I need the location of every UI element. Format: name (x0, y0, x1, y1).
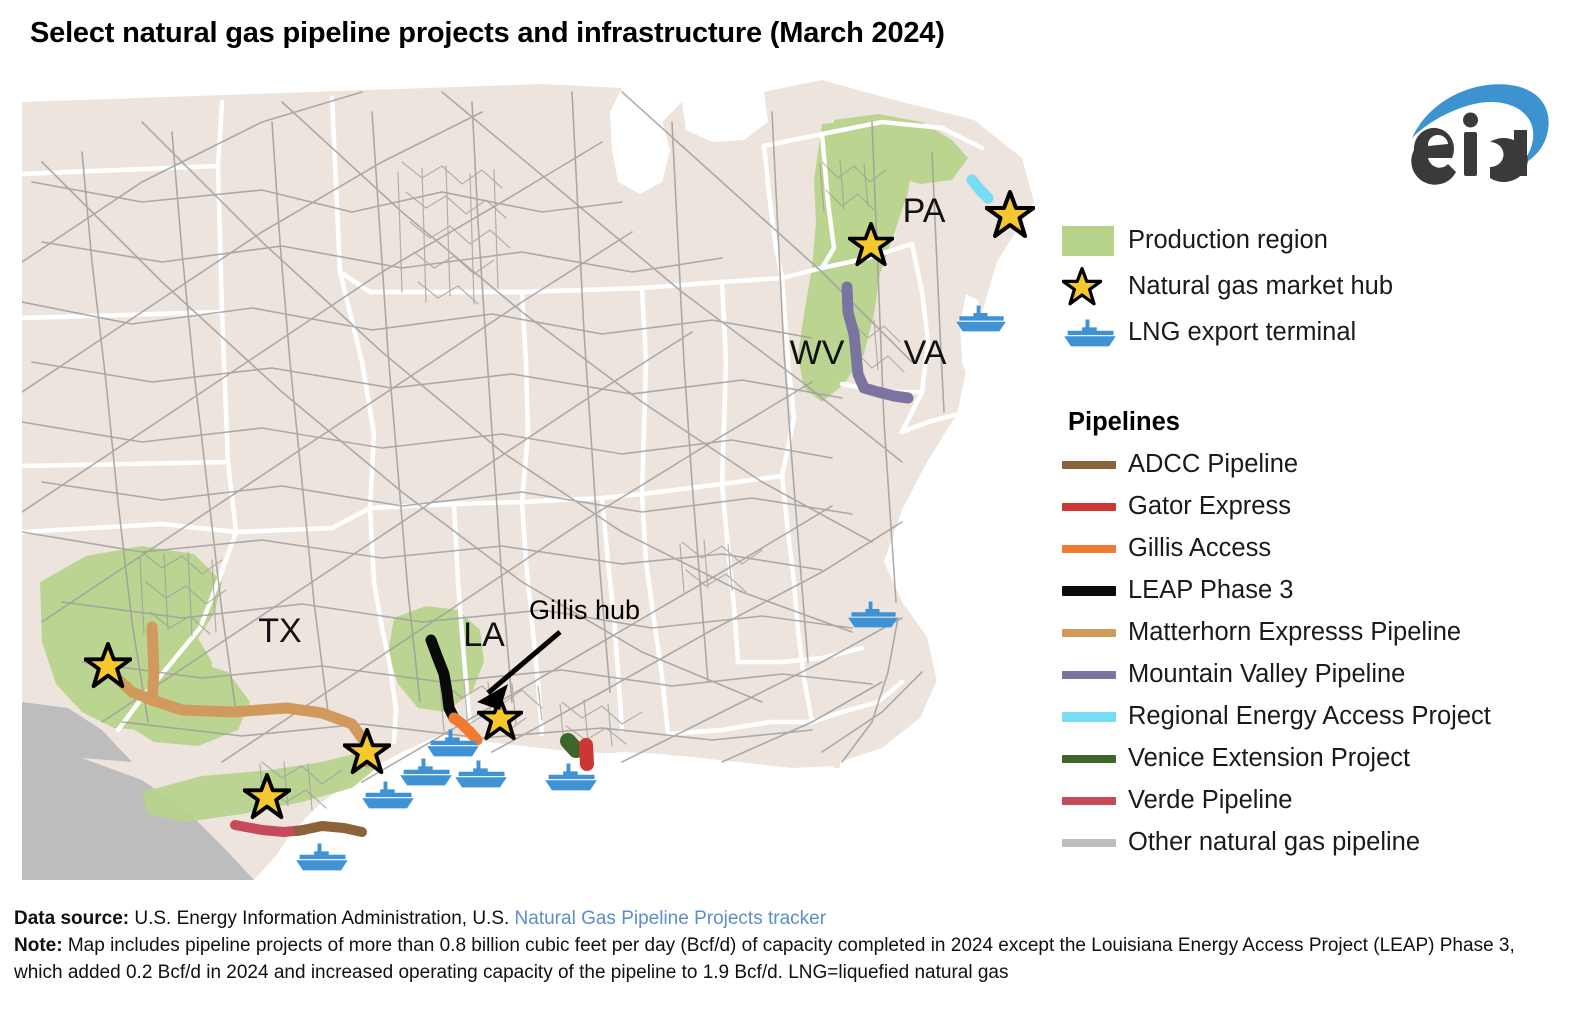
note-label: Note: (14, 935, 63, 956)
line-swatch-icon (1062, 797, 1128, 805)
line-swatch-icon (1062, 461, 1128, 469)
data-source-line: Data source: U.S. Energy Information Adm… (14, 905, 1564, 932)
data-source-link[interactable]: Natural Gas Pipeline Projects tracker (515, 908, 827, 929)
legend-symbols: Production region Natural gas market hub… (1062, 218, 1562, 356)
legend-label-mountain-valley-pipeline: Mountain Valley Pipeline (1128, 662, 1405, 688)
pipeline-venice-extension (568, 741, 576, 750)
legend-label-gator-express: Gator Express (1128, 494, 1291, 520)
line-swatch-icon (1062, 545, 1128, 553)
legend-item-gillis-access[interactable]: Gillis Access (1062, 528, 1572, 570)
annotation-label-gillis-hub: Gillis hub (529, 595, 640, 625)
map-figure: Select natural gas pipeline projects and… (0, 0, 1572, 1028)
legend-label-venice-extension-project: Venice Extension Project (1128, 746, 1410, 772)
legend-label-gillis-access: Gillis Access (1128, 536, 1271, 562)
pipeline-adcc (298, 826, 362, 832)
legend-item-venice-extension-project[interactable]: Venice Extension Project (1062, 738, 1572, 780)
legend-label-matterhorn-express-pipeline: Matterhorn Expresss Pipeline (1128, 620, 1461, 646)
legend-label-market-hub: Natural gas market hub (1128, 274, 1393, 300)
star-icon (1062, 267, 1128, 307)
legend-item-gator-express[interactable]: Gator Express (1062, 486, 1572, 528)
legend-item-adcc-pipeline[interactable]: ADCC Pipeline (1062, 444, 1572, 486)
legend-pipelines: ADCC Pipeline Gator Express Gillis Acces… (1062, 444, 1572, 864)
footer: Data source: U.S. Energy Information Adm… (14, 905, 1564, 986)
legend-label-leap-phase-3: LEAP Phase 3 (1128, 578, 1293, 604)
page-title: Select natural gas pipeline projects and… (30, 17, 945, 50)
legend-item-market-hub[interactable]: Natural gas market hub (1062, 264, 1562, 310)
map-canvas[interactable]: TX LA PA WV VA Gillis hub (22, 62, 1042, 880)
note-line: Note: Map includes pipeline projects of … (14, 932, 1564, 986)
state-label-la: LA (463, 616, 505, 654)
eia-logo (1404, 78, 1554, 190)
data-source-text: U.S. Energy Information Administration, … (129, 908, 514, 929)
legend-item-matterhorn-express-pipeline[interactable]: Matterhorn Expresss Pipeline (1062, 612, 1572, 654)
legend-item-verde-pipeline[interactable]: Verde Pipeline (1062, 780, 1572, 822)
legend-label-other-natural-gas-pipeline: Other natural gas pipeline (1128, 830, 1420, 856)
legend-label-adcc-pipeline: ADCC Pipeline (1128, 452, 1298, 478)
legend-item-production-region[interactable]: Production region (1062, 218, 1562, 264)
line-swatch-icon (1062, 671, 1128, 679)
legend-item-lng-terminal[interactable]: LNG export terminal (1062, 310, 1562, 356)
legend-pipelines-heading: Pipelines (1068, 408, 1180, 437)
state-label-wv: WV (790, 334, 845, 372)
legend-item-leap-phase-3[interactable]: LEAP Phase 3 (1062, 570, 1572, 612)
legend-label-production-region: Production region (1128, 228, 1328, 254)
data-source-label: Data source: (14, 908, 129, 929)
legend-item-regional-energy-access-project[interactable]: Regional Energy Access Project (1062, 696, 1572, 738)
pipeline-gator-express (586, 745, 587, 764)
note-text: Map includes pipeline projects of more t… (14, 935, 1515, 983)
legend-label-lng-terminal: LNG export terminal (1128, 320, 1356, 346)
legend-item-other-natural-gas-pipeline[interactable]: Other natural gas pipeline (1062, 822, 1572, 864)
line-swatch-icon (1062, 629, 1128, 637)
line-swatch-icon (1062, 503, 1128, 511)
state-label-va: VA (904, 334, 947, 372)
ship-icon (1062, 317, 1128, 350)
state-label-tx: TX (258, 612, 301, 650)
state-label-pa: PA (903, 192, 946, 230)
line-swatch-icon (1062, 712, 1128, 722)
line-swatch-icon (1062, 586, 1128, 596)
line-swatch-icon (1062, 755, 1128, 763)
legend-label-verde-pipeline: Verde Pipeline (1128, 788, 1292, 814)
line-swatch-icon (1062, 839, 1128, 847)
legend-item-mountain-valley-pipeline[interactable]: Mountain Valley Pipeline (1062, 654, 1572, 696)
legend-label-regional-energy-access-project: Regional Energy Access Project (1128, 704, 1491, 730)
production-region-swatch-icon (1062, 226, 1128, 256)
